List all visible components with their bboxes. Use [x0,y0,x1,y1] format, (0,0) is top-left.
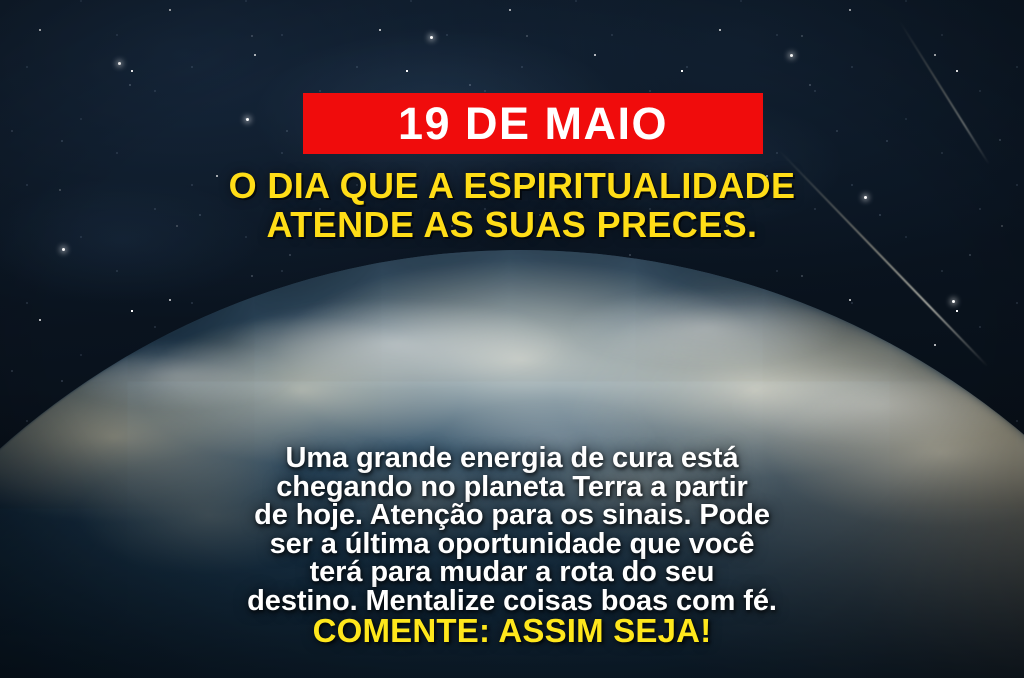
poster-content: 19 DE MAIO O DIA QUE A ESPIRITUALIDADE A… [0,0,1024,685]
body-line-1: Uma grande energia de cura está [0,444,1024,473]
date-banner-text: 19 DE MAIO [398,101,668,146]
body-line-6: destino. Mentalize coisas boas com fé. [0,587,1024,616]
bottom-white-strip [0,678,1024,685]
poster: 19 DE MAIO O DIA QUE A ESPIRITUALIDADE A… [0,0,1024,685]
date-banner: 19 DE MAIO [303,93,763,154]
call-to-action-text: COMENTE: ASSIM SEJA! [313,612,712,649]
body-copy: Uma grande energia de cura está chegando… [0,444,1024,615]
headline-line-2: ATENDE AS SUAS PRECES. [0,205,1024,244]
body-line-3: de hoje. Atenção para os sinais. Pode [0,501,1024,530]
body-line-2: chegando no planeta Terra a partir [0,473,1024,502]
body-line-4: ser a última oportunidade que você [0,530,1024,559]
call-to-action: COMENTE: ASSIM SEJA! [0,613,1024,649]
body-line-5: terá para mudar a rota do seu [0,558,1024,587]
headline: O DIA QUE A ESPIRITUALIDADE ATENDE AS SU… [0,166,1024,244]
headline-line-1: O DIA QUE A ESPIRITUALIDADE [0,166,1024,205]
